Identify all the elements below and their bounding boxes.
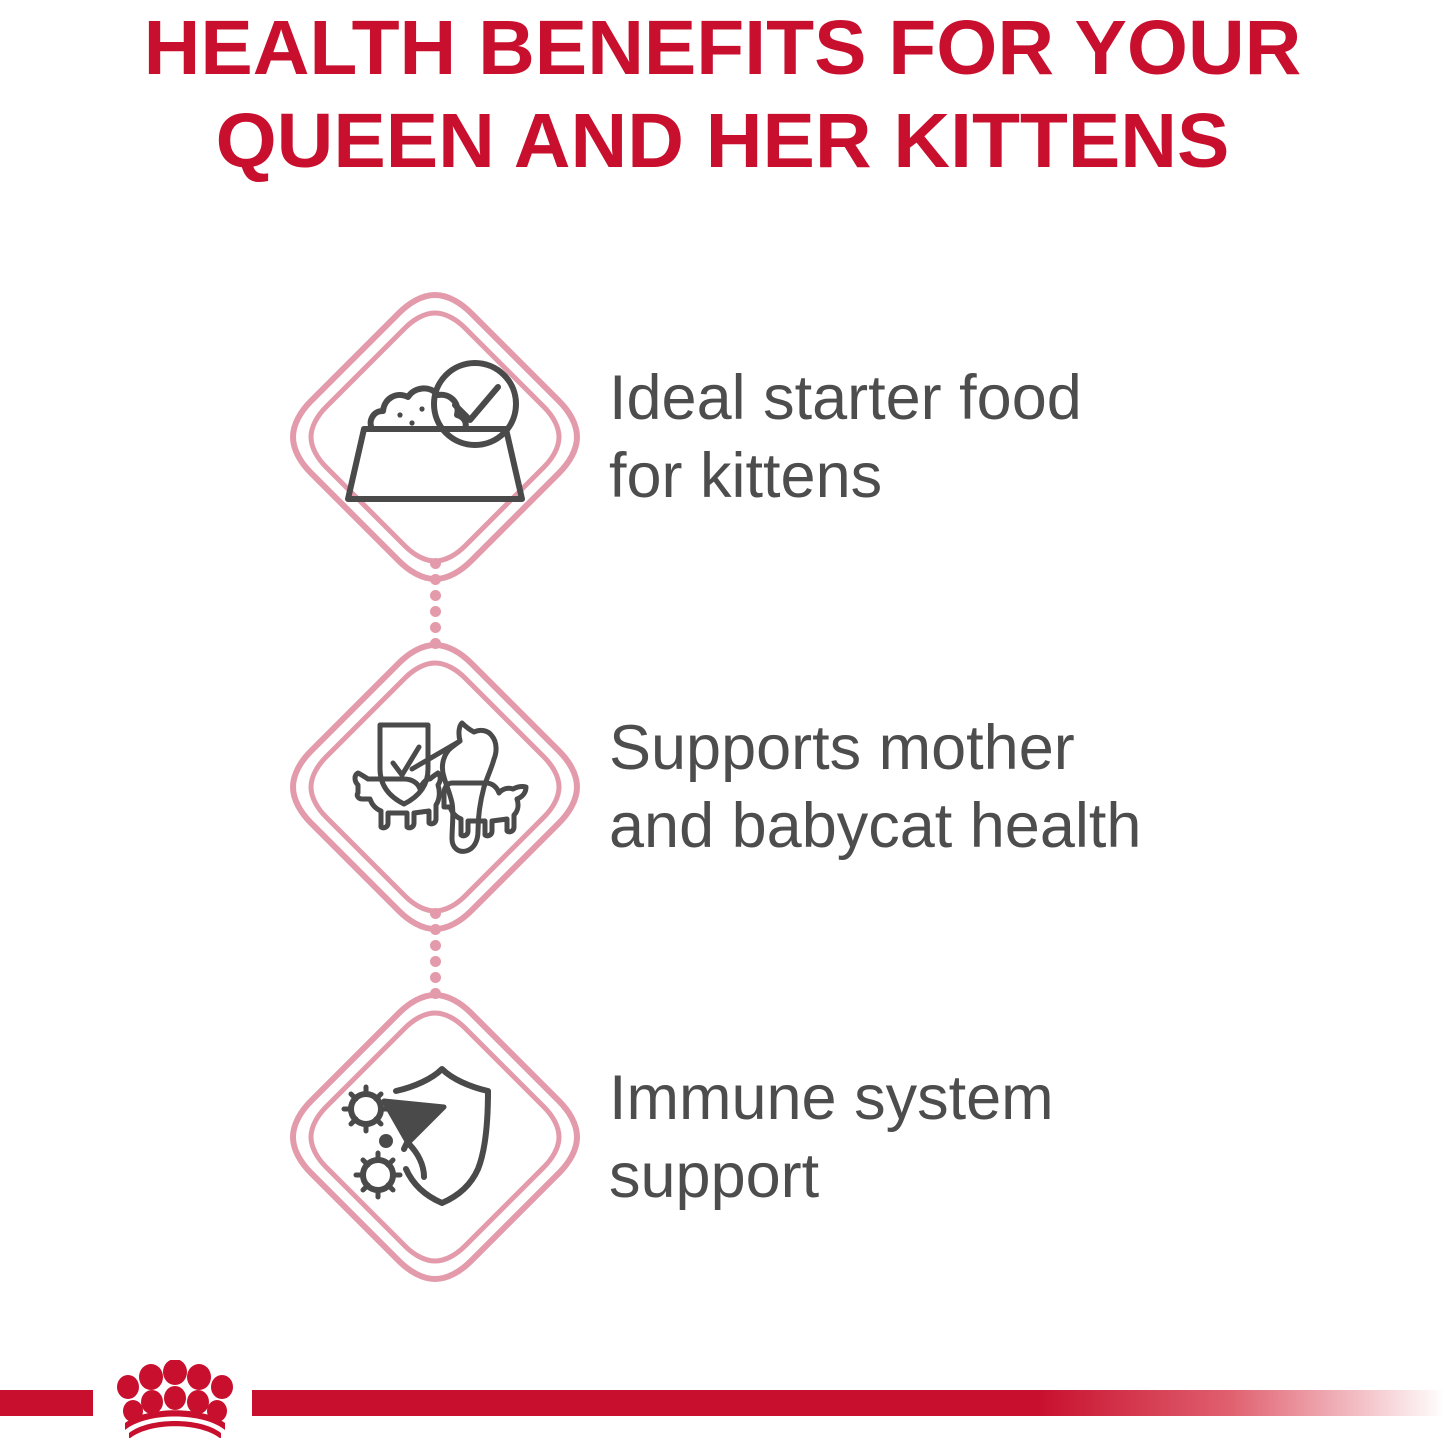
shield-germs-icon bbox=[340, 1057, 530, 1217]
page-title-line-1: HEALTH BENEFITS FOR YOUR bbox=[0, 0, 1445, 95]
food-bowl-check-icon bbox=[340, 357, 530, 517]
benefit-label-1: Ideal starter food for kittens bbox=[609, 359, 1082, 515]
benefit-label-2: Supports mother and babycat health bbox=[609, 709, 1141, 865]
benefit-icon-1 bbox=[285, 287, 585, 587]
benefit-item-2: Supports mother and babycat health bbox=[0, 612, 1445, 962]
shield-cat-kittens-icon bbox=[340, 707, 530, 867]
footer-brand-bar bbox=[0, 1368, 1445, 1438]
page-title: HEALTH BENEFITS FOR YOUR QUEEN AND HER K… bbox=[0, 0, 1445, 188]
footer-bar-right-segment bbox=[252, 1390, 1445, 1416]
benefit-icon-3 bbox=[285, 987, 585, 1287]
benefit-label-3: Immune system support bbox=[609, 1059, 1054, 1215]
footer-bar-left-segment bbox=[0, 1390, 93, 1416]
benefit-icon-2 bbox=[285, 637, 585, 937]
benefits-list: Ideal starter food for kittens bbox=[0, 262, 1445, 1312]
benefit-item-1: Ideal starter food for kittens bbox=[0, 262, 1445, 612]
benefit-item-3: Immune system support bbox=[0, 962, 1445, 1312]
royal-canin-crown-logo bbox=[95, 1360, 255, 1438]
page-title-line-2: QUEEN AND HER KITTENS bbox=[0, 95, 1445, 188]
